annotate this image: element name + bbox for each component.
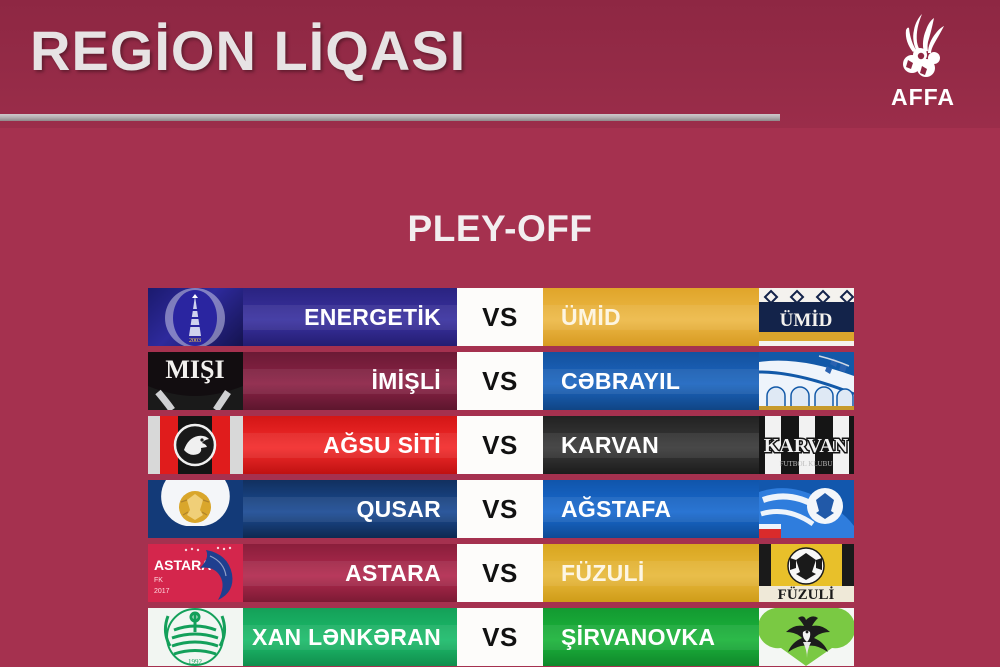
away-team-panel: KARVAN (543, 416, 759, 474)
svg-text:1992: 1992 (188, 658, 203, 666)
vs-label: VS (482, 430, 518, 461)
vs-separator: VS (457, 544, 543, 602)
home-team-panel: ENERGETİK (243, 288, 457, 346)
affa-flame-icon (888, 12, 958, 84)
away-team-panel: ŞİRVANOVKA (543, 608, 759, 666)
home-team-panel: QUSAR (243, 480, 457, 538)
qusar-crest (148, 480, 243, 538)
section-title: PLEY-OFF (0, 208, 1000, 250)
vs-separator: VS (457, 480, 543, 538)
home-team-panel: ASTARA (243, 544, 457, 602)
vs-separator: VS (457, 352, 543, 410)
away-team-name: ŞİRVANOVKA (561, 624, 715, 651)
page-title: REGİON LİQASI (30, 18, 466, 83)
away-team-panel: AĞSTAFA (543, 480, 759, 538)
svg-text:MIŞI: MIŞI (165, 355, 224, 384)
vs-separator: VS (457, 288, 543, 346)
home-team-name: İMİŞLİ (371, 368, 441, 395)
vs-separator: VS (457, 608, 543, 666)
svg-text:2017: 2017 (154, 588, 170, 595)
affa-logo-text: AFFA (880, 84, 966, 111)
umid-crest: ÜMİD (759, 288, 854, 346)
cebrayil-crest (759, 352, 854, 410)
away-team-name: ÜMİD (561, 304, 621, 331)
header-bar: REGİON LİQASI (0, 0, 1000, 128)
away-team-panel: FÜZULİ (543, 544, 759, 602)
vs-label: VS (482, 302, 518, 333)
away-team-name: KARVAN (561, 432, 659, 459)
imisli-crest: MIŞI (148, 352, 243, 410)
home-team-name: ENERGETİK (304, 304, 441, 331)
home-team-panel: İMİŞLİ (243, 352, 457, 410)
vs-separator: VS (457, 416, 543, 474)
home-team-panel: XAN LƏNKƏRAN (243, 608, 457, 666)
fuzuli-crest: FÜZULİ (759, 544, 854, 602)
svg-text:FK: FK (154, 577, 163, 584)
home-team-panel: AĞSU SİTİ (243, 416, 457, 474)
karvan-crest: KARVAN FUTBOL KLUBU (759, 416, 854, 474)
match-row[interactable]: MIŞI İMİŞLİ VS CƏBRAYIL (148, 352, 854, 410)
match-row[interactable]: QUSAR VS AĞSTAFA (148, 480, 854, 538)
away-team-name: CƏBRAYIL (561, 368, 680, 395)
home-team-name: ASTARA (345, 560, 441, 587)
vs-label: VS (482, 494, 518, 525)
energetik-crest: 2003 (148, 288, 243, 346)
agsu-siti-crest (148, 416, 243, 474)
match-row[interactable]: 1992 XAN LƏNKƏRAN VS ŞİRVANOVKA (148, 608, 854, 666)
match-row[interactable]: AĞSU SİTİ VS KARVAN KARVAN FUTBOL KLUBU (148, 416, 854, 474)
agstafa-crest (759, 480, 854, 538)
xan-lenkeran-crest: 1992 (148, 608, 243, 666)
match-row[interactable]: ASTARA FK 2017 ASTARA (148, 544, 854, 602)
svg-text:KARVAN: KARVAN (764, 435, 849, 457)
vs-label: VS (482, 558, 518, 589)
vs-label: VS (482, 622, 518, 653)
match-row[interactable]: 2003 ENERGETİK VS ÜMİD (148, 288, 854, 346)
svg-text:ASTARA: ASTARA (154, 557, 211, 573)
affa-logo: AFFA (880, 12, 966, 112)
vs-label: VS (482, 366, 518, 397)
match-list: 2003 ENERGETİK VS ÜMİD (148, 288, 854, 666)
away-team-panel: ÜMİD (543, 288, 759, 346)
home-team-name: AĞSU SİTİ (323, 432, 441, 459)
header-divider (0, 114, 780, 121)
svg-text:FUTBOL KLUBU: FUTBOL KLUBU (780, 460, 833, 468)
home-team-name: QUSAR (356, 496, 441, 523)
away-team-name: FÜZULİ (561, 560, 645, 587)
svg-text:FÜZULİ: FÜZULİ (778, 586, 835, 602)
svg-text:2003: 2003 (189, 338, 201, 344)
poster-root: REGİON LİQASI (0, 0, 1000, 667)
svg-text:ÜMİD: ÜMİD (780, 310, 833, 331)
astara-crest: ASTARA FK 2017 (148, 544, 243, 602)
sirvanovka-crest (759, 608, 854, 666)
home-team-name: XAN LƏNKƏRAN (252, 624, 441, 651)
away-team-panel: CƏBRAYIL (543, 352, 759, 410)
away-team-name: AĞSTAFA (561, 496, 671, 523)
